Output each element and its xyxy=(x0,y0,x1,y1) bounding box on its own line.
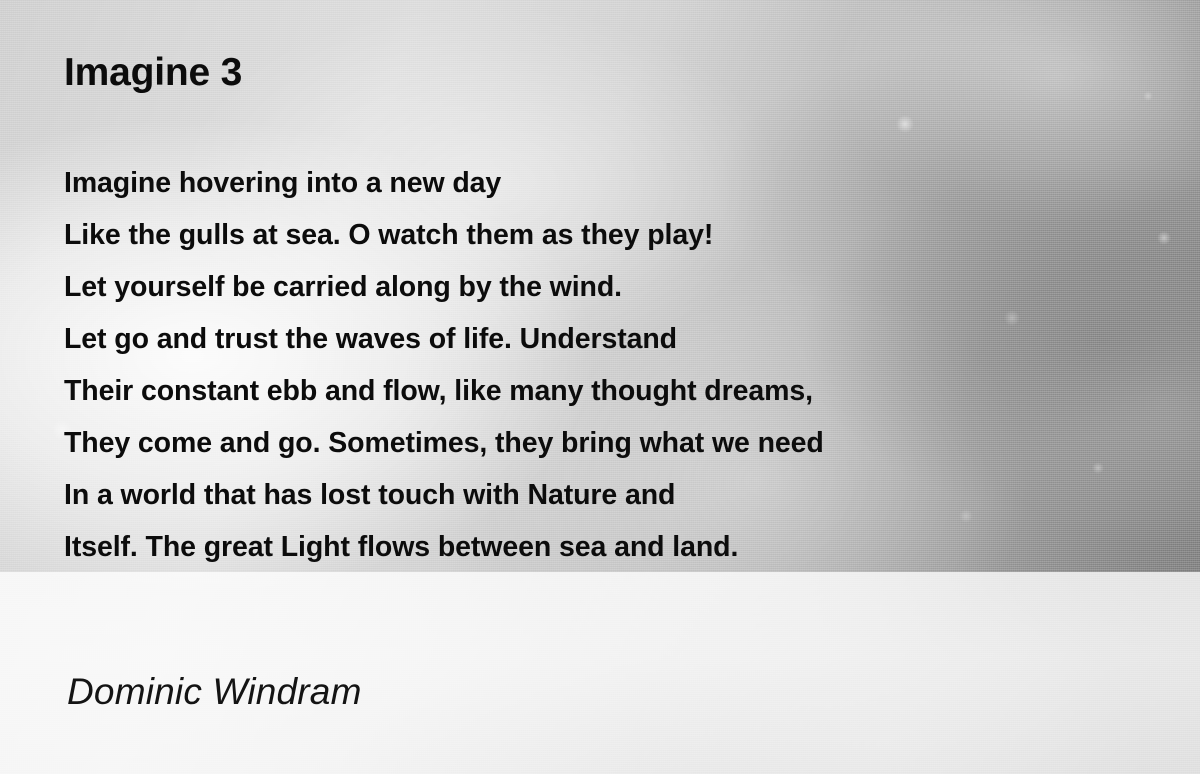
poem-line: In a world that has lost touch with Natu… xyxy=(64,469,1064,521)
poem-line: Their constant ebb and flow, like many t… xyxy=(64,365,1064,417)
poem-line: Let yourself be carried along by the win… xyxy=(64,261,1064,313)
poem-author-name: Dominic Windram xyxy=(67,668,362,716)
poem-image-card: Imagine 3 Imagine hovering into a new da… xyxy=(0,0,1200,774)
poem-line: Let go and trust the waves of life. Unde… xyxy=(64,313,1064,365)
poem-line: Itself. The great Light flows between se… xyxy=(64,521,1064,573)
poem-title: Imagine 3 xyxy=(64,50,242,96)
poem-line: They come and go. Sometimes, they bring … xyxy=(64,417,1064,469)
poem-line: Like the gulls at sea. O watch them as t… xyxy=(64,209,1064,261)
poem-line: Imagine hovering into a new day xyxy=(64,157,1064,209)
poem-body: Imagine hovering into a new day Like the… xyxy=(64,157,1064,573)
poem-content: Imagine 3 Imagine hovering into a new da… xyxy=(0,0,1200,774)
